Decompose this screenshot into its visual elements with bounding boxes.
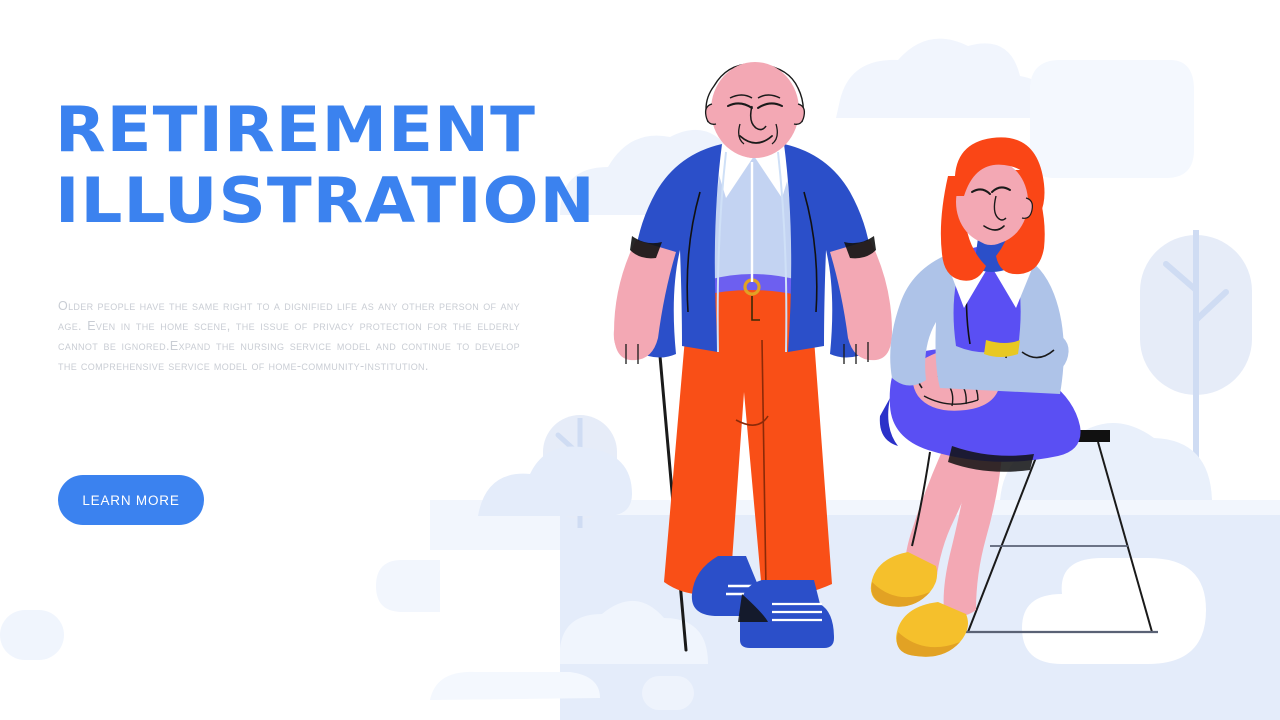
learn-more-button[interactable]: Learn more [58, 475, 204, 525]
page-title-line-1: RETIREMENT [55, 100, 564, 161]
page-title-line-2: ILLUSTRATION [55, 171, 564, 232]
hero-banner: RETIREMENT ILLUSTRATION Older people hav… [0, 0, 1280, 720]
hero-body-copy: Older people have the same right to a di… [58, 296, 520, 376]
hero-text-column: RETIREMENT ILLUSTRATION Older people hav… [55, 100, 535, 232]
elderly-man-figure [614, 62, 892, 648]
seated-woman-figure [871, 137, 1081, 656]
